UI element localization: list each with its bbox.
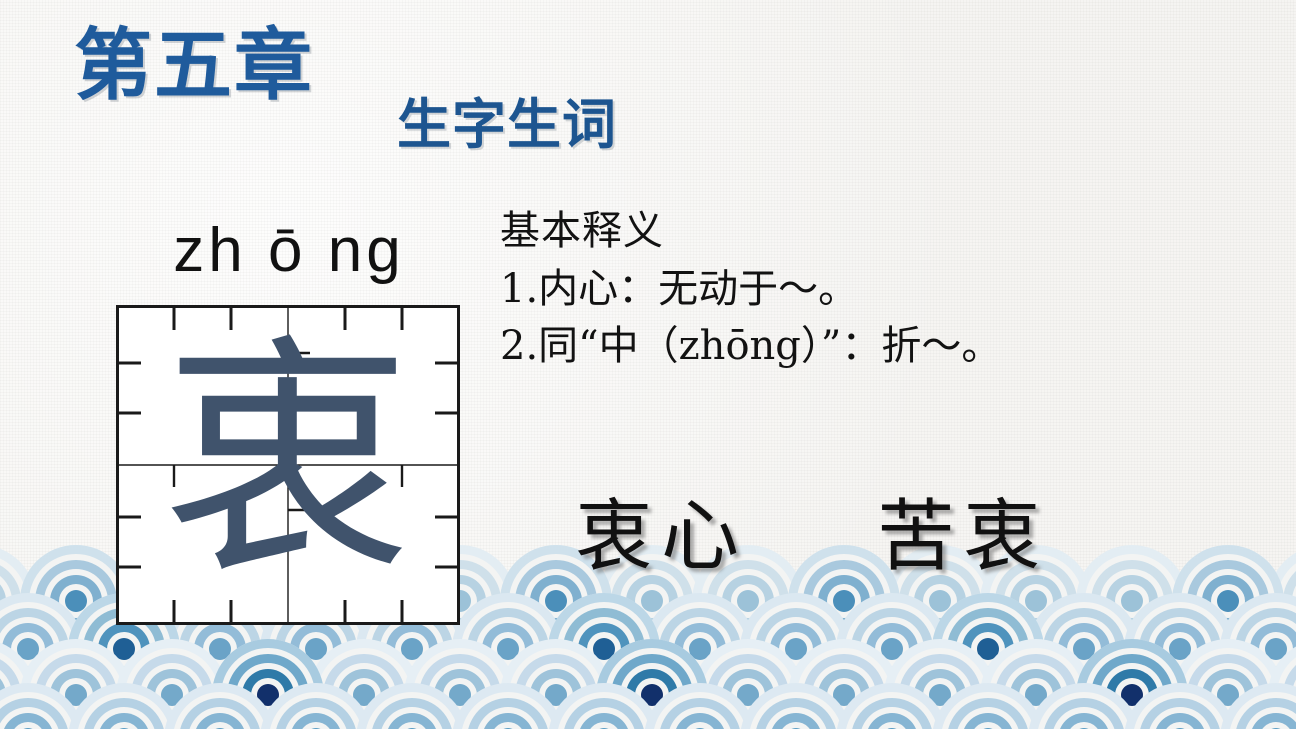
grid-character: 衷 <box>116 305 460 625</box>
definition-item-2: 2.同“中（zhōng）”：折〜。 <box>500 318 1270 375</box>
definition-block: 基本释义 1.内心：无动于〜。 2.同“中（zhōng）”：折〜。 <box>500 208 1270 375</box>
definition-heading: 基本释义 <box>500 208 1270 255</box>
slide-canvas: 第五章 生字生词 zh ō ng <box>0 0 1296 729</box>
chapter-title: 第五章 <box>74 26 314 104</box>
section-subtitle: 生字生词 <box>397 98 617 152</box>
pinyin-label: zh ō ng <box>116 218 462 283</box>
example-word-2: 苦衷 <box>877 498 1049 576</box>
definition-item-1: 1.内心：无动于〜。 <box>500 261 1270 318</box>
character-grid-box: 衷 <box>116 305 460 625</box>
example-words-row: 衷心 苦衷 <box>575 498 1115 576</box>
example-word-1: 衷心 <box>575 498 747 576</box>
